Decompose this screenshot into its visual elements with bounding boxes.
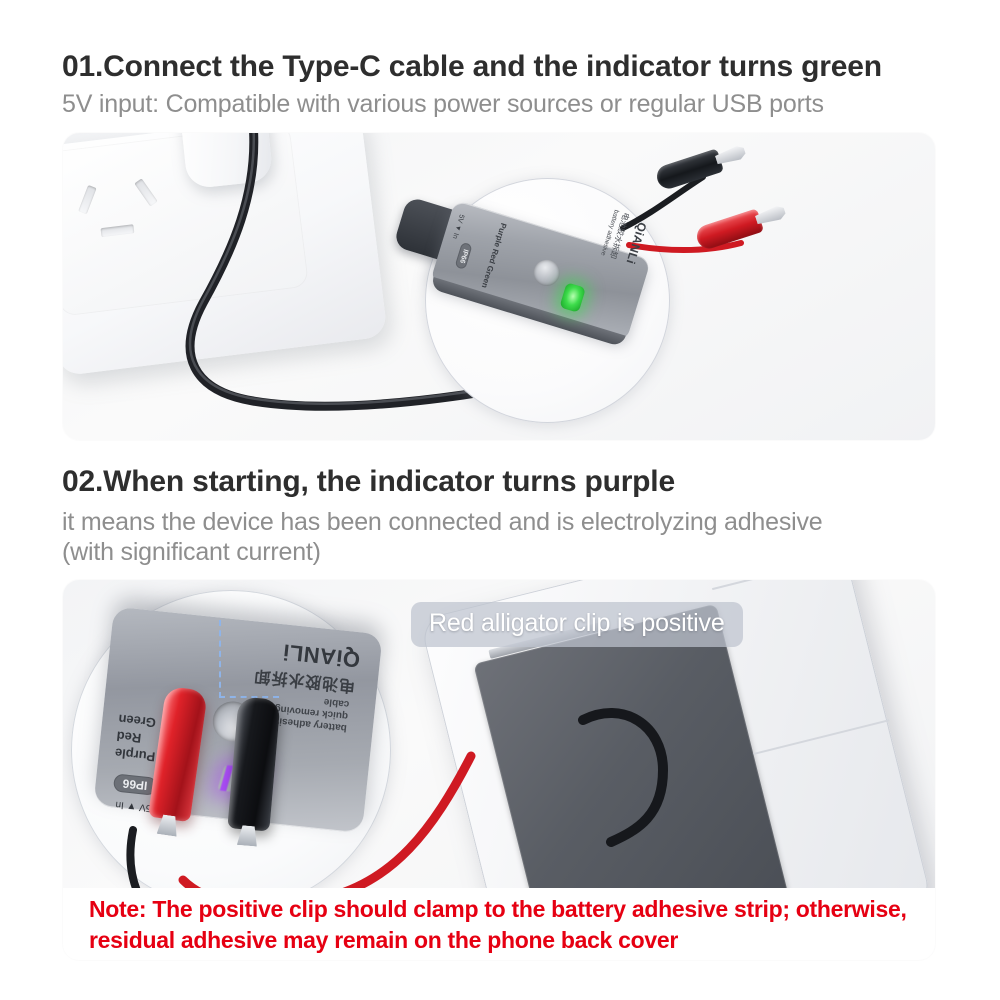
- warning-note-line-1: Note: The positive clip should clamp to …: [89, 894, 935, 925]
- step-1-subtitle: 5V input: Compatible with various power …: [62, 90, 824, 119]
- device-ip-rating-badge: IP66: [454, 242, 472, 270]
- step-2-subtitle-line-1: it means the device has been connected a…: [62, 508, 823, 537]
- step-2-title: 02.When starting, the indicator turns pu…: [62, 465, 675, 499]
- step-1-title: 01.Connect the Type-C cable and the indi…: [62, 50, 882, 84]
- warning-note-line-2: residual adhesive may remain on the phon…: [89, 925, 935, 956]
- adhesive-target-guide: [219, 620, 279, 698]
- device-led-legend: Purple Red Green: [479, 222, 508, 289]
- device-input-label: 5V ▼ In: [451, 213, 465, 239]
- instruction-page: 01.Connect the Type-C cable and the indi…: [0, 0, 1000, 1000]
- device-screw: [530, 257, 562, 289]
- callout-red-clip-positive: Red alligator clip is positive: [411, 602, 743, 647]
- photo-panel-step-1: QiANLi 电池胶水拆卸 battery adhesive Purple Re…: [63, 133, 935, 440]
- warning-note: Note: The positive clip should clamp to …: [63, 888, 935, 960]
- step-2-subtitle-line-2: (with significant current): [62, 538, 321, 567]
- status-led-green: [559, 282, 586, 313]
- scene-socket-and-device: QiANLi 电池胶水拆卸 battery adhesive Purple Re…: [63, 133, 935, 440]
